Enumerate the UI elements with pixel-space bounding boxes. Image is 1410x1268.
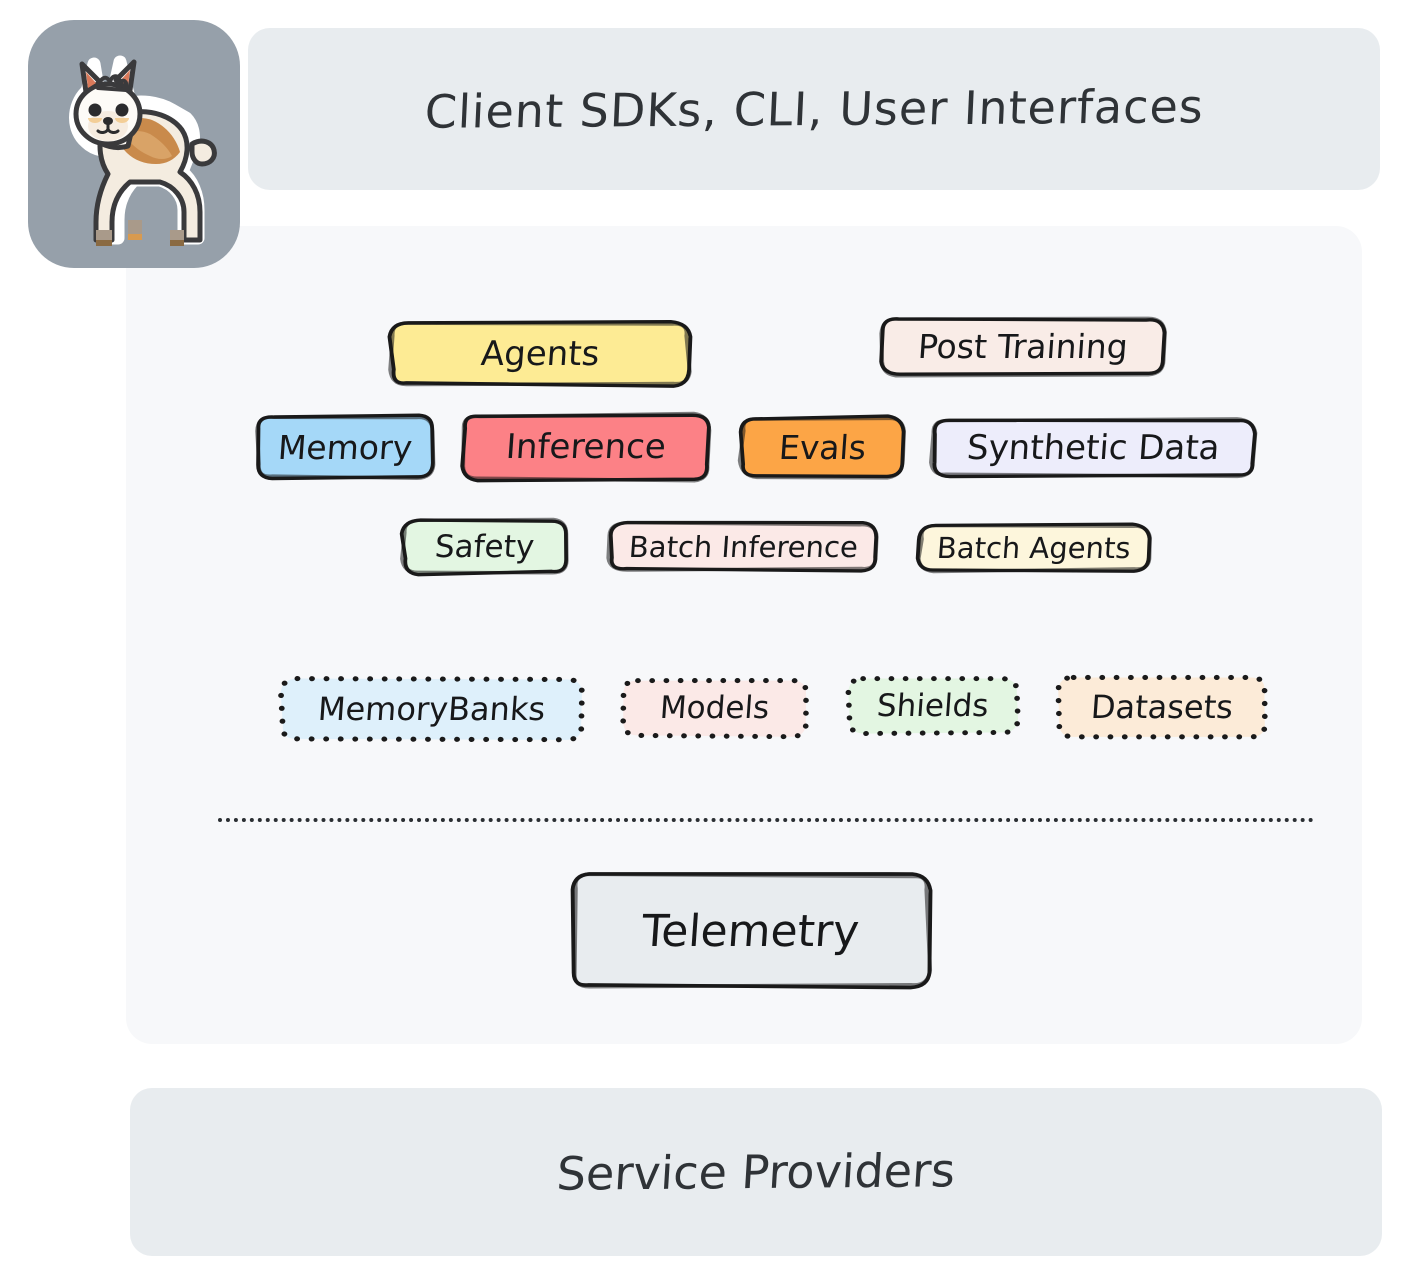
node-label: Batch Agents	[936, 531, 1132, 565]
api-node-synthetic-data[interactable]: Synthetic Data	[927, 415, 1259, 481]
api-node-evals[interactable]: Evals	[736, 413, 908, 481]
api-node-memory[interactable]: Memory	[252, 411, 438, 483]
api-node-safety[interactable]: Safety	[398, 516, 572, 578]
node-label: Post Training	[917, 327, 1129, 366]
resource-node-shields[interactable]: Shields	[843, 674, 1023, 738]
service-providers-band-label: Service Providers	[555, 1143, 957, 1200]
api-node-batch-inference[interactable]: Batch Inference	[604, 519, 882, 575]
api-node-batch-agents[interactable]: Batch Agents	[914, 521, 1154, 575]
section-divider	[218, 818, 1314, 822]
node-label: MemoryBanks	[317, 690, 547, 728]
node-label: Evals	[777, 428, 867, 467]
node-label: Datasets	[1090, 688, 1235, 726]
node-label: Agents	[479, 334, 600, 374]
resource-node-memorybanks[interactable]: MemoryBanks	[276, 674, 588, 744]
service-providers-band: Service Providers	[130, 1088, 1382, 1256]
api-node-post-training[interactable]: Post Training	[877, 313, 1169, 379]
node-label: Safety	[434, 529, 536, 565]
client-sdk-band: Client SDKs, CLI, User Interfaces	[248, 28, 1380, 190]
llama-logo-tile	[28, 20, 240, 268]
node-label: Inference	[505, 427, 668, 467]
llama-logo-icon	[42, 34, 232, 262]
api-node-inference[interactable]: Inference	[458, 410, 714, 484]
node-label: Telemetry	[641, 906, 862, 957]
client-sdk-band-label: Client SDKs, CLI, User Interfaces	[423, 79, 1204, 138]
node-label: Shields	[876, 688, 990, 724]
resource-node-datasets[interactable]: Datasets	[1053, 672, 1271, 742]
node-label: Synthetic Data	[965, 428, 1220, 468]
telemetry-node[interactable]: Telemetry	[568, 870, 934, 992]
resource-node-models[interactable]: Models	[618, 675, 812, 741]
node-label: Memory	[277, 428, 414, 467]
api-node-agents[interactable]: Agents	[386, 318, 694, 390]
node-label: Batch Inference	[627, 530, 858, 564]
node-label: Models	[659, 690, 771, 726]
